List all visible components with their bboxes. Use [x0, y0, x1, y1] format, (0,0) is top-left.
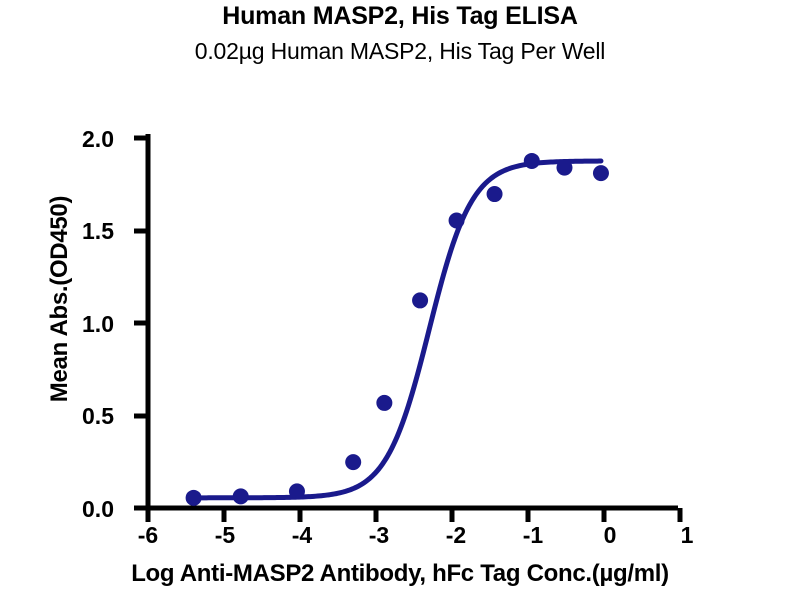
data-point-marker [412, 292, 428, 308]
plot-area [0, 0, 800, 600]
axis-lines [146, 134, 678, 508]
data-point-marker [524, 153, 540, 169]
data-series-layer [186, 153, 609, 506]
data-point-marker [556, 160, 572, 176]
data-point-marker [376, 395, 392, 411]
data-point-marker [186, 490, 202, 506]
data-point-marker [345, 454, 361, 470]
data-point-marker [593, 165, 609, 181]
series-line [194, 161, 601, 498]
data-point-marker [487, 186, 503, 202]
data-point-marker [289, 483, 305, 499]
data-point-marker [449, 213, 465, 229]
data-point-marker [233, 488, 249, 504]
elisa-chart-figure: Human MASP2, His Tag ELISA 0.02µg Human … [0, 0, 800, 600]
